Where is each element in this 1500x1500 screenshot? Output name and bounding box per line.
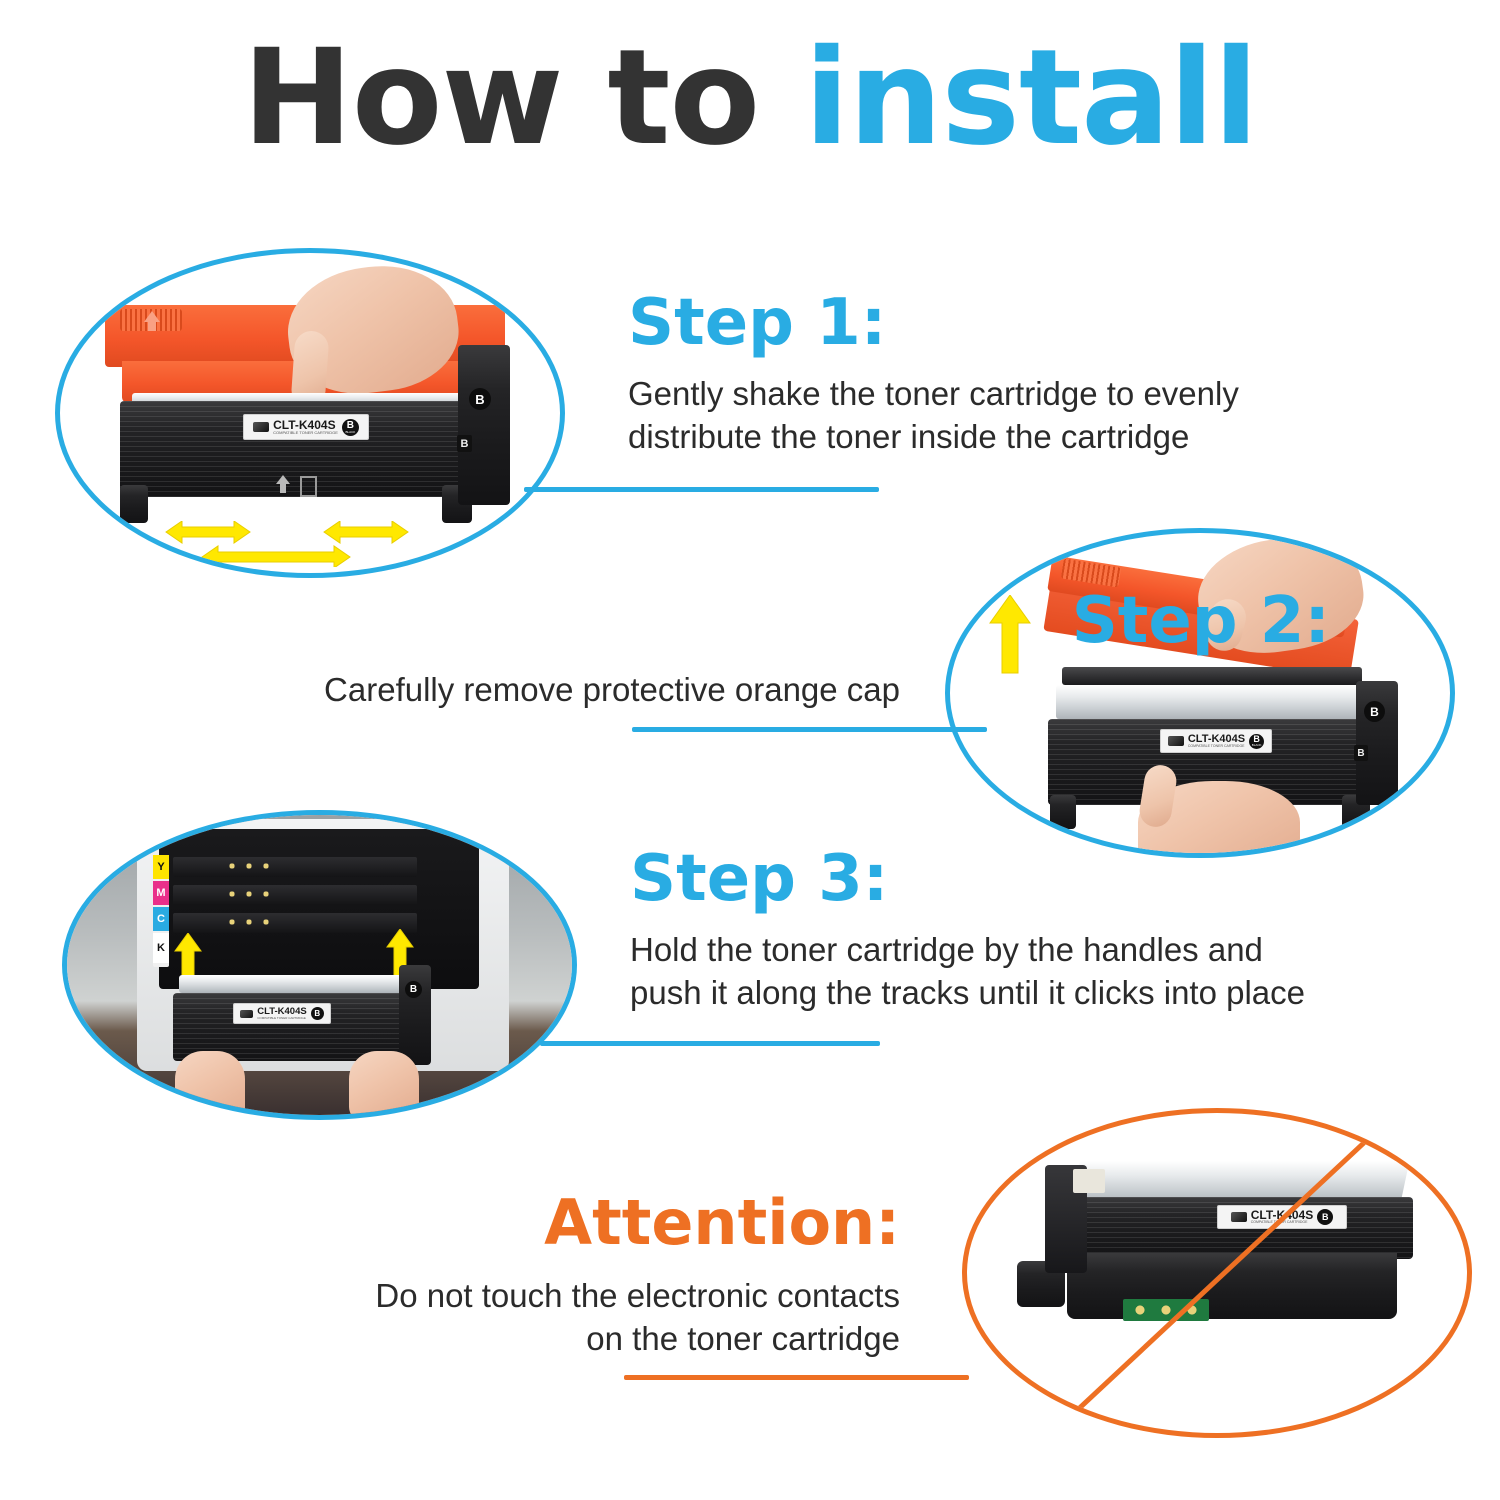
- installed-cartridge-rail-2: [173, 885, 417, 905]
- cartridge-product-label: CLT-K404S COMPATIBLE TONER CARTRIDGE B: [233, 1003, 331, 1024]
- brand-logo-icon: [1168, 736, 1184, 746]
- brand-logo-icon: [1231, 1212, 1247, 1222]
- cartridge-square-badge: B: [1354, 745, 1368, 761]
- right-hand-on-handle: [349, 1051, 419, 1120]
- cartridge-silver-bar: [1056, 685, 1368, 719]
- label-color-badge-word: BLACK: [345, 431, 355, 434]
- step-3-scene: Y M C K B: [67, 815, 572, 1115]
- cartridge-end-chip-window: [1073, 1169, 1105, 1193]
- step-1-text-block: Step 1: Gently shake the toner cartridge…: [628, 288, 1348, 458]
- step-1-photo-bubble: CLT-K404S COMPATIBLE TONER CARTRIDGE B B…: [55, 248, 565, 578]
- step-3-heading: Step 3:: [630, 844, 1410, 914]
- step-2-heading: Step 2:: [630, 586, 1330, 656]
- label-subtitle: COMPATIBLE TONER CARTRIDGE: [273, 431, 338, 435]
- step-3-photo-bubble: Y M C K B: [62, 810, 577, 1120]
- attention-body-line-1: Do not touch the electronic contacts: [200, 1274, 900, 1317]
- cartridge-product-label: CLT-K404S COMPATIBLE TONER CARTRIDGE B B…: [243, 414, 369, 440]
- label-subtitle: COMPATIBLE TONER CARTRIDGE: [1188, 745, 1245, 749]
- attention-heading: Attention:: [200, 1188, 900, 1258]
- installed-cartridge-rail-1: [173, 857, 417, 877]
- installed-cartridge-rail-3: [173, 913, 417, 933]
- cartridge-left-foot: [1050, 795, 1076, 829]
- cartridge-side-badge: B: [469, 388, 491, 410]
- step-3-text-block: Step 3: Hold the toner cartridge by the …: [630, 844, 1410, 1014]
- step-2-body-block: Carefully remove protective orange cap: [200, 668, 900, 711]
- cartridge-silver-bar: [179, 975, 405, 993]
- attention-body-line-2: on the toner cartridge: [200, 1317, 900, 1360]
- label-color-badge: B: [311, 1007, 324, 1020]
- page-title: How to install: [0, 28, 1500, 168]
- shake-arrow-right: [324, 521, 408, 543]
- cartridge-side-badge: B: [1364, 701, 1385, 722]
- step-2-text-block: Step 2:: [630, 586, 1330, 656]
- step-1-body-line-2: distribute the toner inside the cartridg…: [628, 415, 1348, 458]
- page-title-part-1: How to: [242, 21, 804, 175]
- brand-logo-icon: [253, 422, 269, 432]
- color-slot-C: C: [153, 907, 169, 931]
- attention-text-block: Attention: Do not touch the electronic c…: [200, 1188, 900, 1360]
- attention-scene: CLT-K404S COMPATIBLE TONER CARTRIDGE B: [967, 1113, 1467, 1433]
- contact-pads-3: [227, 919, 271, 926]
- step-2-scene: CLT-K404S COMPATIBLE TONER CARTRIDGE B B…: [950, 533, 1450, 853]
- cap-up-arrow-stem: [148, 321, 156, 331]
- printer-bay-interior: [159, 829, 479, 989]
- cartridge-side-badge: B: [405, 981, 422, 998]
- label-color-badge-letter: B: [347, 421, 354, 431]
- label-color-badge: B: [1317, 1209, 1333, 1225]
- color-slot-K: K: [153, 933, 169, 963]
- cartridge-right-end-block: [399, 965, 431, 1065]
- step-1-body-line-1: Gently shake the toner cartridge to even…: [628, 372, 1348, 415]
- label-color-badge-letter: B: [1322, 1213, 1329, 1222]
- brand-logo-icon: [240, 1010, 253, 1018]
- label-color-badge-letter: B: [314, 1010, 320, 1018]
- left-hand-on-handle: [175, 1051, 245, 1120]
- attention-underline: [624, 1375, 969, 1380]
- page-title-part-2: install: [804, 21, 1257, 175]
- cartridge-right-end-block: [1356, 681, 1398, 805]
- cartridge-square-badge: B: [457, 435, 472, 452]
- cartridge-product-label: CLT-K404S COMPATIBLE TONER CARTRIDGE B B…: [1160, 729, 1272, 753]
- label-subtitle: COMPATIBLE TONER CARTRIDGE: [257, 1017, 306, 1020]
- color-slot-Y: Y: [153, 855, 169, 879]
- label-color-badge-word: BLACK: [1252, 744, 1262, 747]
- step-2-body-line-1: Carefully remove protective orange cap: [200, 668, 900, 711]
- shake-arrows-group: [160, 521, 460, 567]
- how-to-install-infographic: How to install: [0, 0, 1500, 1500]
- step-1-heading: Step 1:: [628, 288, 1348, 358]
- label-color-badge: B BLACK: [342, 419, 359, 436]
- cartridge-left-foot: [120, 485, 148, 523]
- color-slot-M: M: [153, 881, 169, 905]
- cartridge-body-hatch-icon: [300, 476, 317, 497]
- step-1-underline: [524, 487, 879, 492]
- step-3-underline: [540, 1041, 880, 1046]
- step-2-photo-bubble: CLT-K404S COMPATIBLE TONER CARTRIDGE B B…: [945, 528, 1455, 858]
- cartridge-drum-bar: [1062, 667, 1362, 685]
- attention-photo-bubble: CLT-K404S COMPATIBLE TONER CARTRIDGE B: [962, 1108, 1472, 1438]
- contact-pads-1: [227, 863, 271, 870]
- step-3-body-line-1: Hold the toner cartridge by the handles …: [630, 928, 1410, 971]
- shake-arrow-left: [166, 521, 250, 543]
- label-color-badge: B BLACK: [1249, 734, 1264, 749]
- cartridge-right-end-block: [458, 345, 510, 505]
- step-2-underline: [632, 727, 987, 732]
- cartridge-body-arrow-stem: [280, 484, 286, 493]
- step-1-scene: CLT-K404S COMPATIBLE TONER CARTRIDGE B B…: [60, 253, 560, 573]
- cartridge-body-arrow-icon: [276, 475, 290, 484]
- contact-pads-2: [227, 891, 271, 898]
- step-3-body-line-2: push it along the tracks until it clicks…: [630, 971, 1410, 1014]
- shake-arrow-center: [202, 546, 350, 567]
